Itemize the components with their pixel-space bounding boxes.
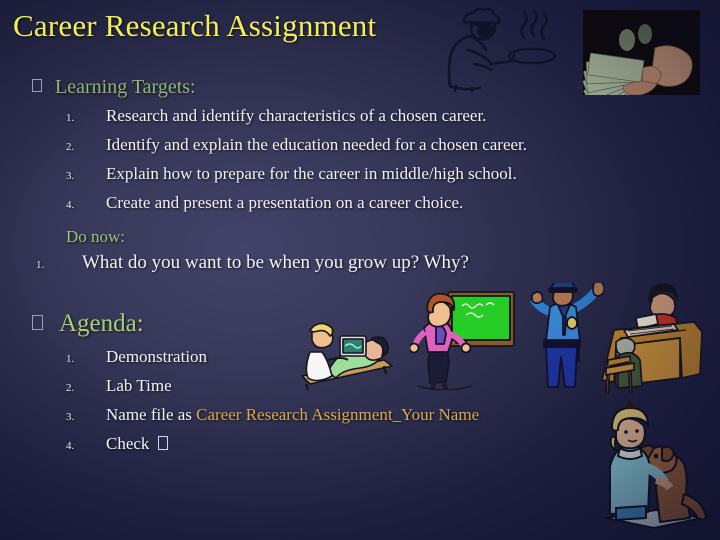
list-item-text: Check (106, 434, 168, 454)
list-item: 4. Create and present a presentation on … (66, 193, 463, 213)
slide-canvas: Career Research Assignment Learning Targ… (0, 0, 720, 540)
teacher-at-chalkboard-clipart (410, 288, 518, 390)
list-item-text: Lab Time (106, 376, 172, 396)
list-item-text: Name file as Career Research Assignment_… (106, 405, 479, 425)
list-item: 3. Explain how to prepare for the career… (66, 164, 517, 184)
doctor-examining-patient-clipart (288, 296, 400, 390)
list-item-text-plain: Check (106, 434, 154, 453)
list-item-text: Explain how to prepare for the career in… (106, 164, 517, 184)
list-item-number: 1. (66, 353, 106, 365)
list-item-number: 4. (66, 440, 106, 452)
list-item-number: 4. (66, 199, 106, 211)
artwork-artifact-dot (626, 401, 633, 408)
section-heading-agenda: Agenda: (32, 310, 144, 338)
section-label: Agenda: (59, 310, 144, 338)
hand-holding-fanned-dollar-bills-photo (583, 10, 700, 95)
section-heading-do-now: Do now: (66, 227, 125, 247)
list-item: 2. Lab Time (66, 376, 172, 396)
list-item: 3. Name file as Career Research Assignme… (66, 405, 479, 425)
list-item-number: 2. (66, 382, 106, 394)
list-item-text: Demonstration (106, 347, 207, 367)
list-item-number: 1. (66, 112, 106, 124)
bullet-missing-glyph-icon (32, 315, 43, 330)
list-item-text: What do you want to be when you grow up?… (82, 252, 469, 274)
bullet-missing-glyph-icon (32, 79, 42, 92)
list-item: 1. Demonstration (66, 347, 207, 367)
list-item-number: 2. (66, 141, 106, 153)
list-item-text-plain: Name file as (106, 405, 196, 424)
list-item-number: 1. (36, 259, 82, 271)
list-item-text: Create and present a presentation on a c… (106, 193, 463, 213)
list-item-number: 3. (66, 170, 106, 182)
office-interview-at-desk-clipart (600, 282, 712, 394)
file-name-highlight: Career Research Assignment_Your Name (196, 405, 479, 424)
section-heading-learning-targets: Learning Targets: (32, 76, 196, 99)
list-item: 1. Research and identify characteristics… (66, 106, 486, 126)
list-item: 4. Check (66, 434, 168, 454)
list-item-number: 3. (66, 411, 106, 423)
section-label: Learning Targets: (55, 76, 196, 99)
list-item: 1. What do you want to be when you grow … (36, 252, 469, 274)
police-officer-clipart (524, 283, 604, 395)
list-item-text: Research and identify characteristics of… (106, 106, 486, 126)
page-title: Career Research Assignment (13, 7, 376, 45)
list-item-text: Identify and explain the education neede… (106, 135, 527, 155)
list-item: 2. Identify and explain the education ne… (66, 135, 527, 155)
chef-with-frying-pan-line-art (428, 4, 568, 92)
veterinarian-with-dog-clipart (598, 406, 716, 534)
trailing-missing-glyph-icon (158, 436, 168, 450)
